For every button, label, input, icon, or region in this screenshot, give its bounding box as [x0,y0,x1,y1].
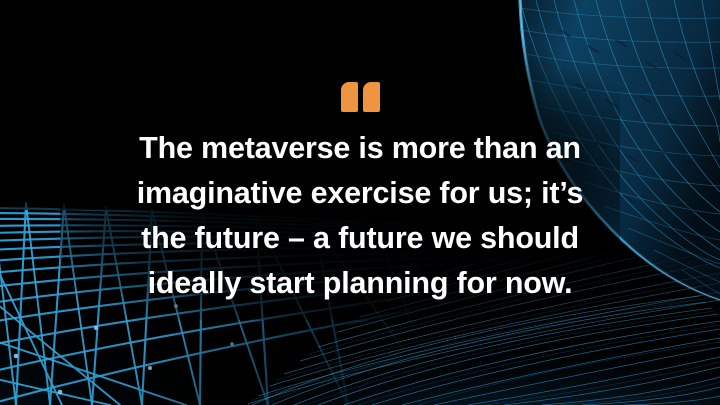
quote-line-3: the future – a future we should [40,216,680,261]
opening-double-quote-icon [339,80,381,116]
quote-slide: The metaverse is more than an imaginativ… [0,0,720,405]
quote-line-4: ideally start planning for now. [40,261,680,306]
quote-content: The metaverse is more than an imaginativ… [0,0,720,405]
quote-line-1: The metaverse is more than an [40,126,680,171]
quote-line-2: imaginative exercise for us; it’s [40,171,680,216]
quote-text-block: The metaverse is more than an imaginativ… [40,126,680,306]
